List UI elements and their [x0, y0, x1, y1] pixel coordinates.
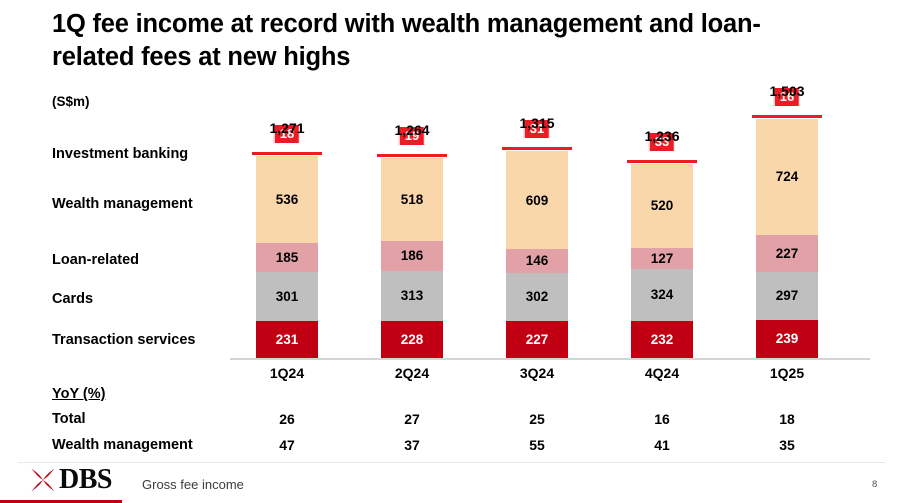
- row-label-wealth-management: Wealth management: [52, 196, 193, 212]
- bar-stack: 609146302227: [506, 151, 568, 358]
- yoy-total-value: 16: [631, 411, 693, 427]
- bar-stack: 518186313228: [381, 158, 443, 358]
- bar-segment: 185: [256, 243, 318, 273]
- bar-segment: 313: [381, 271, 443, 321]
- bar-total-label: 1,236: [644, 128, 679, 144]
- bar-segment-value: 536: [276, 193, 299, 207]
- bar-segment-value: 520: [651, 199, 674, 213]
- x-axis-tick-1q24: 1Q24: [256, 365, 318, 381]
- dbs-logo: DBS: [30, 466, 112, 494]
- bar-total-label: 1,315: [519, 115, 554, 131]
- stacked-bar-chart: 536185301231181,271518186313228191,26460…: [230, 86, 870, 358]
- bar-segment-value: 297: [776, 289, 799, 303]
- bar-stack: 724227297239: [756, 119, 818, 358]
- x-axis-tick-1q25: 1Q25: [756, 365, 818, 381]
- bar-segment-value: 518: [401, 193, 424, 207]
- bar-segment: 146: [506, 249, 568, 273]
- bar-segment-value: 239: [776, 332, 799, 346]
- yoy-total-value: 25: [506, 411, 568, 427]
- x-axis-tick-4q24: 4Q24: [631, 365, 693, 381]
- bar-segment-value: 231: [276, 333, 299, 347]
- page-number: 8: [872, 479, 877, 490]
- yoy-wealth-management-value: 55: [506, 437, 568, 453]
- bar-stack: 536185301231: [256, 156, 318, 358]
- dbs-star-icon: [30, 467, 56, 493]
- bar-group: 609146302227311,315: [506, 151, 568, 358]
- yoy-total-value: 27: [381, 411, 443, 427]
- slide-canvas: 1Q fee income at record with wealth mana…: [0, 0, 903, 503]
- bar-segment-value: 186: [401, 249, 424, 263]
- yoy-wealth-management-value: 41: [631, 437, 693, 453]
- bar-total-label: 1,271: [269, 120, 304, 136]
- bar-segment-value: 185: [276, 251, 299, 265]
- bar-segment-value: 609: [526, 194, 549, 208]
- bar-segment-value: 227: [776, 247, 799, 261]
- bar-segment-value: 232: [651, 333, 674, 347]
- bar-segment-value: 724: [776, 170, 799, 184]
- bar-segment: 239: [756, 320, 818, 358]
- bar-segment-value: 146: [526, 254, 549, 268]
- yoy-wealth-management-value: 35: [756, 437, 818, 453]
- yoy-total-value: 18: [756, 411, 818, 427]
- bar-segment: 609: [506, 151, 568, 249]
- investment-banking-rule: [502, 147, 572, 150]
- bar-segment: 227: [756, 235, 818, 272]
- bar-segment-value: 127: [651, 252, 674, 266]
- bar-segment: 227: [506, 321, 568, 358]
- row-label-loan-related: Loan-related: [52, 252, 139, 268]
- bar-segment: 127: [631, 248, 693, 268]
- bar-segment: 301: [256, 272, 318, 320]
- bar-segment: 186: [381, 241, 443, 271]
- bar-segment-value: 301: [276, 290, 299, 304]
- yoy-wealth-management-value: 47: [256, 437, 318, 453]
- bar-group: 518186313228191,264: [381, 158, 443, 358]
- investment-banking-rule: [377, 154, 447, 157]
- bar-segment: 297: [756, 272, 818, 320]
- yoy-row-label-total: Total: [52, 411, 86, 427]
- investment-banking-rule: [752, 115, 822, 118]
- bar-segment: 724: [756, 119, 818, 236]
- yoy-row-label-wealth-management: Wealth management: [52, 437, 193, 453]
- x-axis-tick-3q24: 3Q24: [506, 365, 568, 381]
- investment-banking-rule: [252, 152, 322, 155]
- bar-group: 536185301231181,271: [256, 156, 318, 358]
- bar-segment: 232: [631, 321, 693, 358]
- bar-segment-value: 228: [401, 333, 424, 347]
- bar-segment: 302: [506, 273, 568, 322]
- bar-segment: 520: [631, 164, 693, 248]
- yoy-wealth-management-value: 37: [381, 437, 443, 453]
- bar-stack: 520127324232: [631, 164, 693, 358]
- page-title: 1Q fee income at record with wealth mana…: [52, 8, 822, 74]
- bar-segment-value: 313: [401, 289, 424, 303]
- bar-segment-value: 324: [651, 288, 674, 302]
- bar-segment-value: 227: [526, 333, 549, 347]
- bar-segment-value: 302: [526, 290, 549, 304]
- bar-group: 724227297239161,503: [756, 119, 818, 358]
- dbs-logo-text: DBS: [59, 466, 112, 494]
- row-label-investment-banking: Investment banking: [52, 146, 188, 162]
- bar-segment: 536: [256, 156, 318, 242]
- yoy-total-value: 26: [256, 411, 318, 427]
- row-label-transaction-services: Transaction services: [52, 332, 195, 348]
- row-label-cards: Cards: [52, 291, 93, 307]
- x-axis-tick-2q24: 2Q24: [381, 365, 443, 381]
- units-label: (S$m): [52, 94, 90, 109]
- yoy-section-header: YoY (%): [52, 386, 105, 402]
- bar-group: 520127324232331,236: [631, 164, 693, 358]
- bar-segment: 518: [381, 158, 443, 241]
- bar-segment: 228: [381, 321, 443, 358]
- footnote: Gross fee income: [142, 477, 244, 492]
- bar-total-label: 1,503: [769, 83, 804, 99]
- bar-total-label: 1,264: [394, 122, 429, 138]
- investment-banking-rule: [627, 160, 697, 163]
- bar-segment: 231: [256, 321, 318, 358]
- bar-segment: 324: [631, 269, 693, 321]
- footer-divider: [18, 462, 885, 463]
- x-axis-line: [230, 358, 870, 360]
